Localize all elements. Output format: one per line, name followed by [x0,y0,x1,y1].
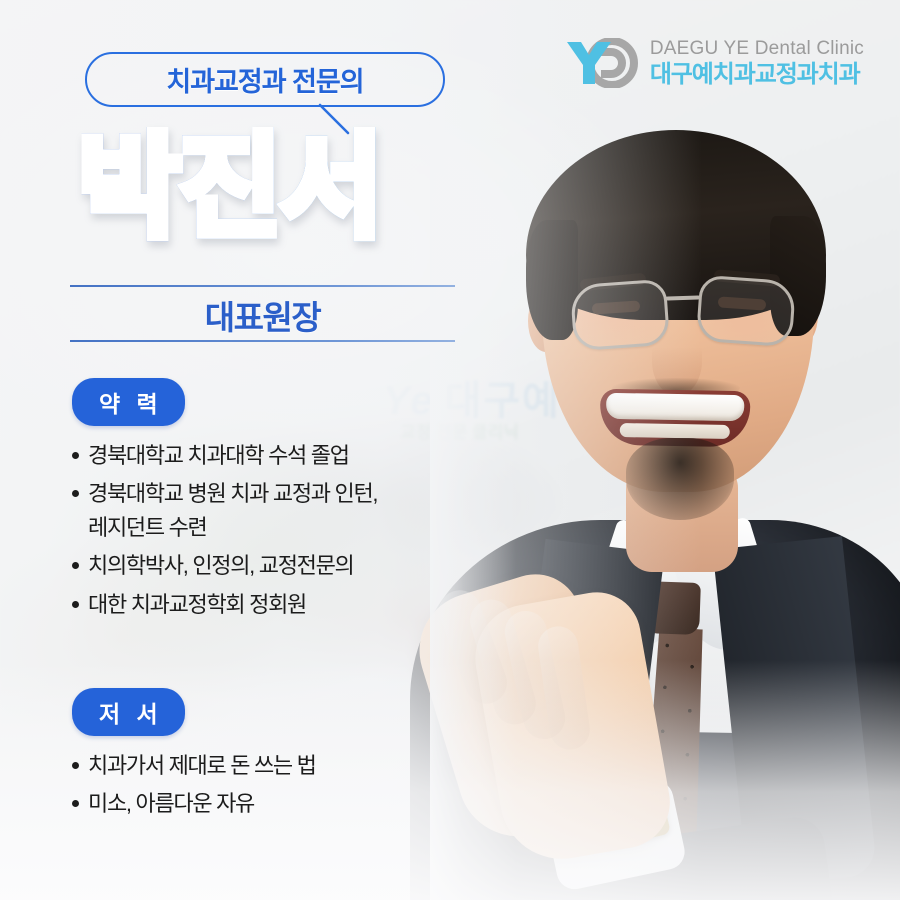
doctor-name-block: 박진서 [78,122,478,262]
list-item: 미소, 아름다운 자유 [72,787,472,820]
ye-logo-icon [565,38,639,88]
publications-section: 저 서 치과가서 제대로 돈 쓰는 법 미소, 아름다운 자유 [72,688,472,826]
career-item-text: 치의학박사, 인정의, 교정전문의 [88,549,353,582]
clinic-logo-text: DAEGU YE Dental Clinic 대구예치과교정과치과 [650,39,864,87]
bullet-icon [72,562,79,569]
list-item: 치과가서 제대로 돈 쓰는 법 [72,749,472,782]
career-item-text: 경북대학교 치과대학 수석 졸업 [88,439,349,472]
bullet-icon [72,490,79,497]
bullet-icon [72,601,79,608]
career-item-text: 경북대학교 병원 치과 교정과 인턴, 레지던트 수련 [88,477,377,544]
bullet-icon [72,452,79,459]
specialty-speech-bubble: 치과교정과 전문의 [85,52,445,107]
career-badge: 약 력 [72,378,185,426]
publication-item-text: 치과가서 제대로 돈 쓰는 법 [88,749,316,782]
bullet-icon [72,800,79,807]
clinic-name-english: DAEGU YE Dental Clinic [650,39,864,58]
title-rule-top [70,285,455,287]
list-item: 대한 치과교정학회 정회원 [72,588,472,621]
doctor-profile-card: Ye대구예치 교정 전문 클리닉 [0,0,900,900]
publications-badge: 저 서 [72,688,185,736]
title-rule-bottom [70,340,455,342]
doctor-title-block: 대표원장 [70,291,455,339]
doctor-name: 박진서 [78,122,478,254]
career-section: 약 력 경북대학교 치과대학 수석 졸업 경북대학교 병원 치과 교정과 인턴,… [72,378,472,626]
career-item-text: 대한 치과교정학회 정회원 [88,588,306,621]
list-item: 치의학박사, 인정의, 교정전문의 [72,549,472,582]
specialty-label: 치과교정과 전문의 [166,60,363,99]
doctor-title: 대표원장 [205,291,320,339]
career-list: 경북대학교 치과대학 수석 졸업 경북대학교 병원 치과 교정과 인턴, 레지던… [72,439,472,621]
publication-item-text: 미소, 아름다운 자유 [88,787,254,820]
publications-list: 치과가서 제대로 돈 쓰는 법 미소, 아름다운 자유 [72,749,472,821]
clinic-logo[interactable]: DAEGU YE Dental Clinic 대구예치과교정과치과 [565,38,864,88]
list-item: 경북대학교 병원 치과 교정과 인턴, 레지던트 수련 [72,477,472,544]
clinic-name-korean: 대구예치과교정과치과 [650,63,860,87]
bullet-icon [72,762,79,769]
list-item: 경북대학교 치과대학 수석 졸업 [72,439,472,472]
